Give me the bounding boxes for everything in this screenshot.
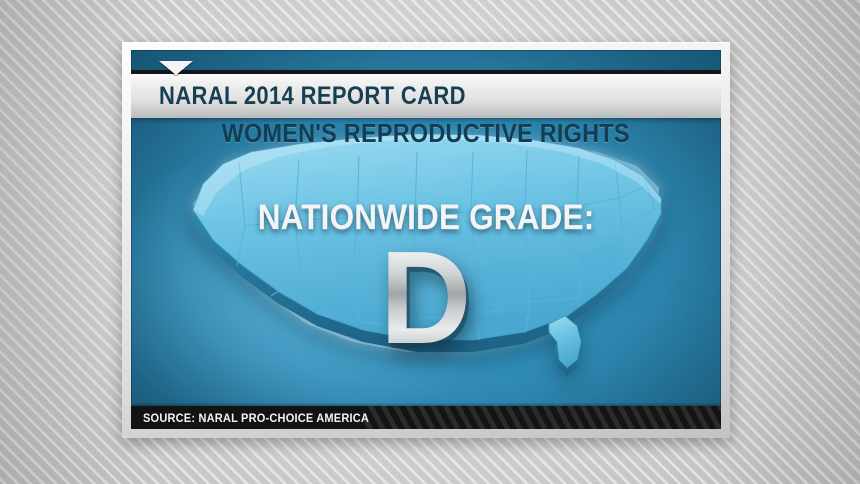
- graphic-subtitle: WOMEN'S REPRODUCTIVE RIGHTS: [131, 118, 721, 149]
- triangle-notch-icon: [159, 61, 193, 75]
- graphic-frame: NARAL 2014 REPORT CARD WOMEN'S REPRODUCT…: [122, 42, 730, 438]
- nationwide-grade-value: D: [380, 232, 472, 364]
- graphic-subtitle-text: WOMEN'S REPRODUCTIVE RIGHTS: [222, 118, 630, 149]
- source-bar: SOURCE: NARAL PRO-CHOICE AMERICA: [131, 406, 721, 429]
- grade-container: D: [131, 232, 721, 364]
- page-title: NARAL 2014 REPORT CARD: [159, 82, 466, 111]
- graphic-title-bar: NARAL 2014 REPORT CARD: [131, 70, 721, 118]
- source-attribution: SOURCE: NARAL PRO-CHOICE AMERICA: [143, 411, 369, 425]
- report-card-panel: NARAL 2014 REPORT CARD WOMEN'S REPRODUCT…: [131, 50, 721, 429]
